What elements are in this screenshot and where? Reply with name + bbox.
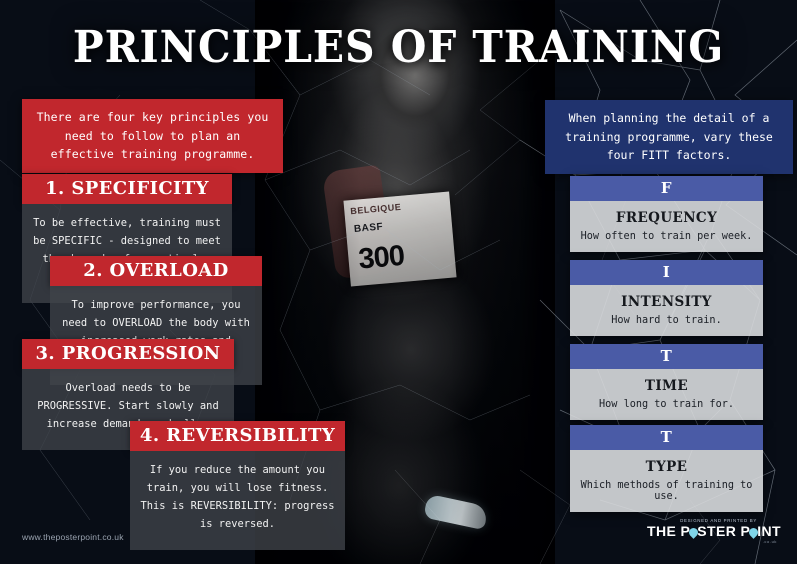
fitt-key-letter: T bbox=[570, 344, 763, 369]
left-intro-box: There are four key principles you need t… bbox=[22, 99, 283, 173]
logo-wordmark: THE PSTER PINT bbox=[647, 523, 781, 539]
fitt-key-letter: F bbox=[570, 176, 763, 201]
athlete-shoe bbox=[423, 494, 489, 530]
fitt-description: How long to train for. bbox=[576, 399, 757, 410]
athlete-vest bbox=[322, 164, 394, 279]
principle-body: If you reduce the amount you train, you … bbox=[130, 451, 345, 550]
fitt-description: Which methods of training to use. bbox=[576, 480, 757, 502]
fitt-card-body: INTENSITY How hard to train. bbox=[570, 285, 763, 336]
fitt-name: FREQUENCY bbox=[576, 210, 757, 226]
principle-heading: 3. PROGRESSION bbox=[22, 339, 234, 369]
fitt-key-letter: I bbox=[570, 260, 763, 285]
fitt-card-time: T TIME How long to train for. bbox=[570, 344, 763, 420]
fitt-card-intensity: I INTENSITY How hard to train. bbox=[570, 260, 763, 336]
fitt-card-body: TYPE Which methods of training to use. bbox=[570, 450, 763, 512]
race-bib-brand: BASF bbox=[354, 221, 384, 235]
poster-canvas: BELGIQUE BASF 300 bbox=[0, 0, 797, 564]
logo-word-part-1: THE P bbox=[647, 523, 690, 539]
race-bib-number: 300 bbox=[357, 240, 405, 277]
principle-card-reversibility: 4. REVERSIBILITY If you reduce the amoun… bbox=[130, 421, 345, 550]
fitt-card-body: FREQUENCY How often to train per week. bbox=[570, 201, 763, 252]
website-url[interactable]: www.theposterpoint.co.uk bbox=[22, 532, 124, 542]
fitt-name: INTENSITY bbox=[576, 294, 757, 310]
race-bib-country: BELGIQUE bbox=[350, 202, 402, 216]
fitt-description: How hard to train. bbox=[576, 315, 757, 326]
principle-heading: 1. SPECIFICITY bbox=[22, 174, 232, 204]
race-bib: BELGIQUE BASF 300 bbox=[343, 192, 456, 287]
fitt-name: TIME bbox=[576, 378, 757, 394]
page-title: PRINCIPLES OF TRAINING bbox=[28, 22, 769, 73]
principle-heading: 2. OVERLOAD bbox=[50, 256, 262, 286]
fitt-key-letter: T bbox=[570, 425, 763, 450]
fitt-name: TYPE bbox=[576, 459, 757, 475]
fitt-card-body: TIME How long to train for. bbox=[570, 369, 763, 420]
publisher-logo[interactable]: DESIGNED AND PRINTED BY THE PSTER PINT .… bbox=[647, 518, 781, 544]
athlete-torso bbox=[289, 51, 520, 373]
fitt-card-type: T TYPE Which methods of training to use. bbox=[570, 425, 763, 512]
logo-domain: .co.uk bbox=[647, 539, 777, 544]
fitt-description: How often to train per week. bbox=[576, 231, 757, 242]
principle-heading: 4. REVERSIBILITY bbox=[130, 421, 345, 451]
right-intro-box: When planning the detail of a training p… bbox=[545, 100, 793, 174]
logo-word-part-3: INT bbox=[757, 523, 781, 539]
logo-word-part-2: STER P bbox=[697, 523, 750, 539]
fitt-card-frequency: F FREQUENCY How often to train per week. bbox=[570, 176, 763, 252]
